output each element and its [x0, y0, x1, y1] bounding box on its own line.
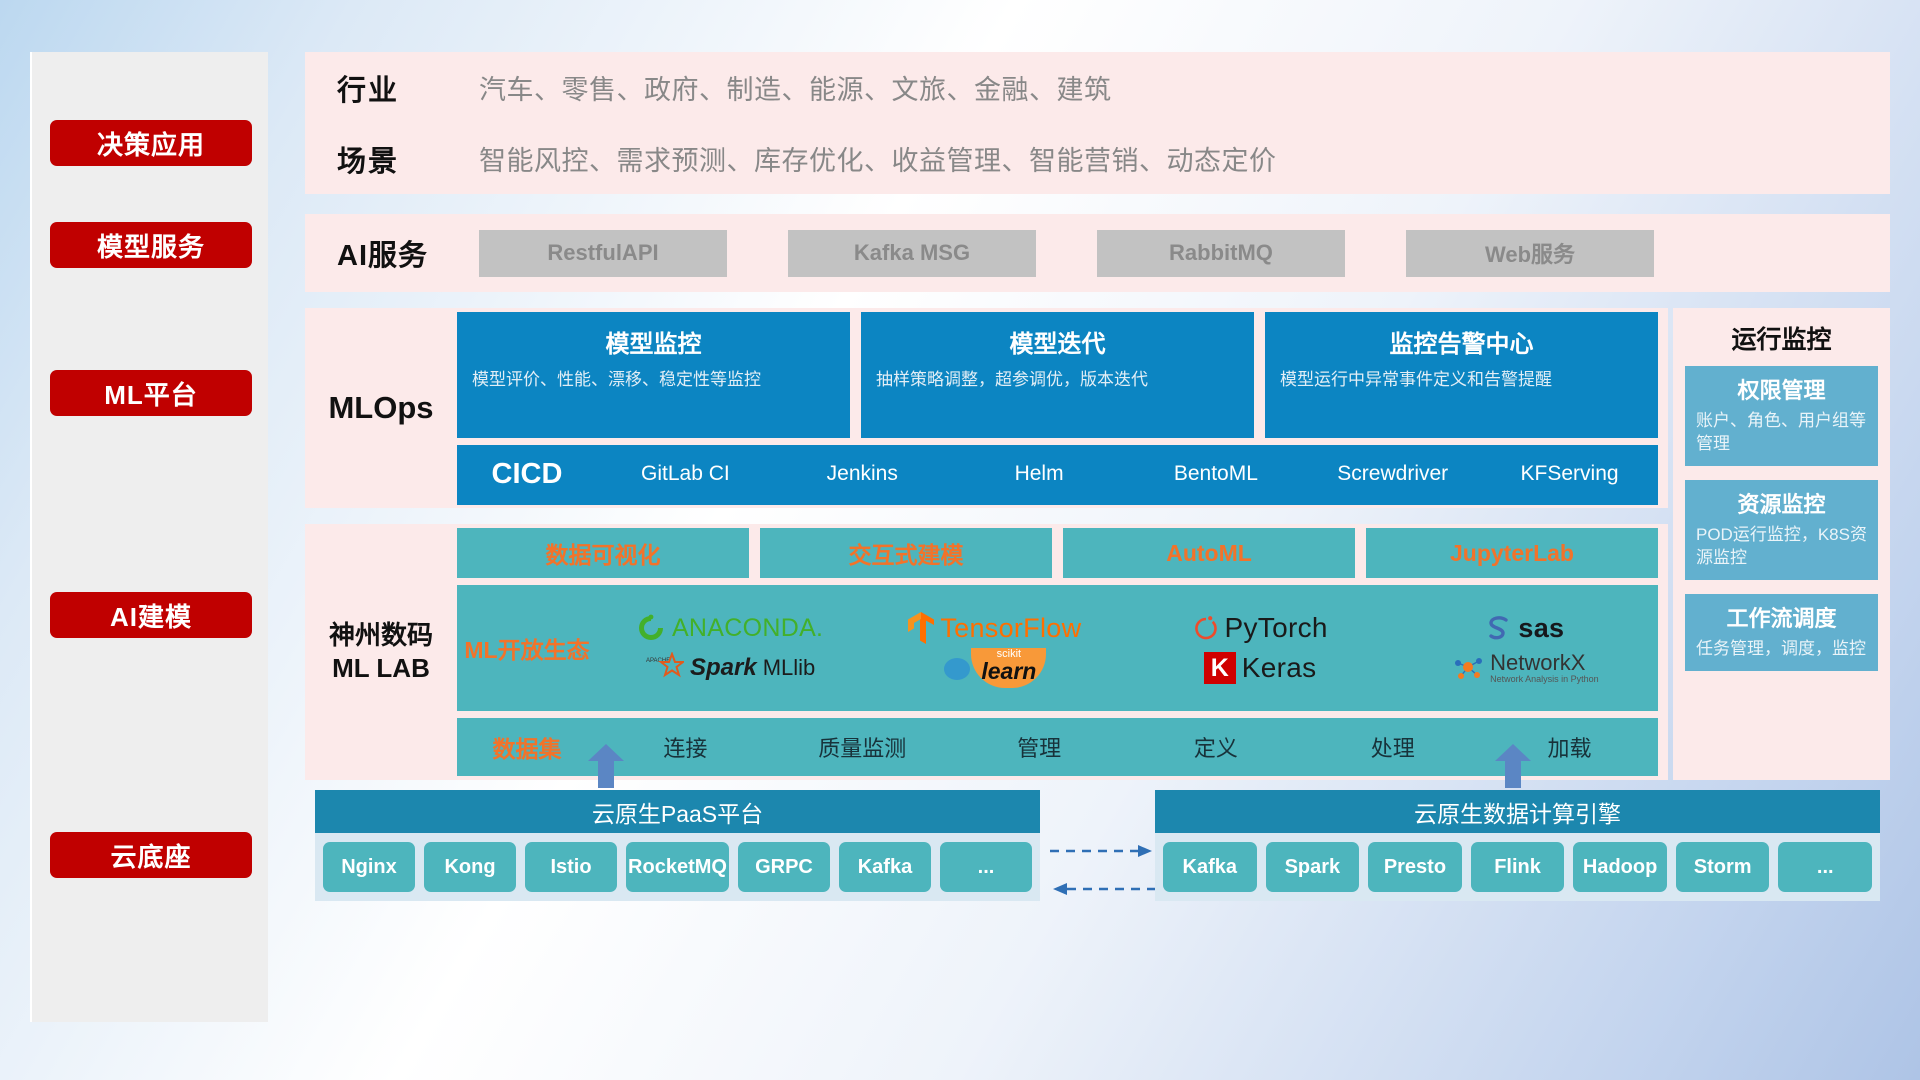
ml-lab-label: 神州数码 ML LAB	[305, 619, 457, 686]
spark-wordmark: Spark	[690, 654, 757, 682]
mlops-card-title: 模型迭代	[876, 324, 1239, 359]
scenario-value: 智能风控、需求预测、库存优化、收益管理、智能营销、动态定价	[479, 139, 1277, 178]
connector-arrows-icon	[1050, 837, 1155, 907]
tensorflow-wordmark: TensorFlow	[940, 613, 1081, 644]
monitoring-card-permission[interactable]: 权限管理 账户、角色、用户组等管理	[1685, 366, 1878, 466]
paas-stack: 云原生PaaS平台 Nginx Kong Istio RocketMQ GRPC…	[315, 790, 1040, 901]
industry-label: 行业	[337, 67, 479, 109]
ml-lab-tab-interactive-modeling[interactable]: 交互式建模	[760, 528, 1052, 578]
monitoring-card-desc: 账户、角色、用户组等管理	[1696, 410, 1867, 456]
paas-chip-kong[interactable]: Kong	[424, 842, 516, 892]
scikit-learn-logo: scikit learn	[943, 648, 1046, 688]
ai-service-button-kafka-msg[interactable]: Kafka MSG	[788, 230, 1036, 277]
sas-mark-icon	[1486, 614, 1512, 642]
cicd-item-jenkins[interactable]: Jenkins	[774, 463, 951, 485]
paas-stack-title: 云原生PaaS平台	[315, 790, 1040, 833]
cicd-item-bentoml[interactable]: BentoML	[1127, 463, 1304, 485]
data-engine-chip-hadoop[interactable]: Hadoop	[1573, 842, 1667, 892]
ml-ecosystem-row: ML开放生态 ANACONDA.	[457, 585, 1658, 711]
cloud-base-section: 云原生PaaS平台 Nginx Kong Istio RocketMQ GRPC…	[305, 742, 1890, 1022]
industry-value: 汽车、零售、政府、制造、能源、文旅、金融、建筑	[479, 68, 1112, 107]
mlops-card-model-iteration[interactable]: 模型迭代 抽样策略调整，超参调优，版本迭代	[861, 312, 1254, 438]
arrow-up-to-paas-icon	[588, 744, 624, 788]
ml-lab-tab-jupyterlab[interactable]: JupyterLab	[1366, 528, 1658, 578]
keras-logo: K Keras	[1204, 652, 1317, 684]
rail-chip-model-service[interactable]: 模型服务	[50, 222, 252, 268]
monitoring-card-workflow[interactable]: 工作流调度 任务管理，调度，监控	[1685, 594, 1878, 671]
rail-chip-label: 模型服务	[97, 227, 205, 264]
monitoring-card-resource[interactable]: 资源监控 POD运行监控，K8S资源监控	[1685, 480, 1878, 580]
pytorch-logo: PyTorch	[1193, 612, 1328, 644]
mlops-label: MLOps	[305, 390, 457, 426]
anaconda-logo: ANACONDA.	[636, 613, 823, 643]
rail-chip-ai-modeling[interactable]: AI建模	[50, 592, 252, 638]
cicd-item-screwdriver[interactable]: Screwdriver	[1304, 463, 1481, 485]
cicd-row: CICD GitLab CI Jenkins Helm BentoML Scre…	[457, 445, 1658, 505]
paas-chip-istio[interactable]: Istio	[525, 842, 617, 892]
mlops-card-title: 模型监控	[472, 324, 835, 359]
rail-chip-decision-app[interactable]: 决策应用	[50, 120, 252, 166]
ml-lab-label-line1: 神州数码	[305, 619, 457, 652]
ai-service-button-rabbitmq[interactable]: RabbitMQ	[1097, 230, 1345, 277]
rail-chip-ml-platform[interactable]: ML平台	[50, 370, 252, 416]
runtime-monitoring-title: 运行监控	[1673, 308, 1890, 366]
monitoring-card-title: 工作流调度	[1696, 601, 1867, 633]
paas-chip-grpc[interactable]: GRPC	[738, 842, 830, 892]
networkx-wordmark: NetworkX	[1490, 652, 1599, 674]
paas-chip-more[interactable]: ...	[940, 842, 1032, 892]
mlops-card-title: 监控告警中心	[1280, 324, 1643, 359]
networkx-tagline: Network Analysis in Python	[1490, 674, 1599, 685]
runtime-monitoring-panel: 运行监控 权限管理 账户、角色、用户组等管理 资源监控 POD运行监控，K8S资…	[1673, 308, 1890, 780]
monitoring-card-desc: 任务管理，调度，监控	[1696, 638, 1867, 661]
ai-service-band: AI服务 RestfulAPI Kafka MSG RabbitMQ Web服务	[305, 214, 1890, 292]
monitoring-card-title: 资源监控	[1696, 487, 1867, 519]
anaconda-wordmark: ANACONDA.	[672, 614, 823, 643]
scenario-label: 场景	[337, 138, 479, 180]
data-engine-chip-storm[interactable]: Storm	[1676, 842, 1770, 892]
pytorch-mark-icon	[1193, 613, 1219, 643]
arrow-up-to-data-engine-icon	[1495, 744, 1531, 788]
data-engine-chip-more[interactable]: ...	[1778, 842, 1872, 892]
paas-chip-rocketmq[interactable]: RocketMQ	[626, 842, 729, 892]
rail-chip-label: AI建模	[110, 597, 192, 634]
data-engine-stack: 云原生数据计算引擎 Kafka Spark Presto Flink Hadoo…	[1155, 790, 1880, 901]
paas-chip-kafka[interactable]: Kafka	[839, 842, 931, 892]
scikit-wordmark-bottom: learn	[981, 660, 1036, 683]
cicd-item-gitlab-ci[interactable]: GitLab CI	[597, 463, 774, 485]
ai-service-button-group: RestfulAPI Kafka MSG RabbitMQ Web服务	[479, 230, 1654, 277]
industry-row: 行业 汽车、零售、政府、制造、能源、文旅、金融、建筑	[305, 52, 1890, 123]
networkx-logo: NetworkX Network Analysis in Python	[1452, 652, 1599, 685]
data-engine-stack-title: 云原生数据计算引擎	[1155, 790, 1880, 833]
scenario-row: 场景 智能风控、需求预测、库存优化、收益管理、智能营销、动态定价	[305, 123, 1890, 194]
networkx-graph-icon	[1452, 653, 1484, 683]
mlops-card-desc: 抽样策略调整，超参调优，版本迭代	[876, 368, 1239, 393]
ai-service-label: AI服务	[337, 232, 479, 274]
mlops-band: MLOps 模型监控 模型评价、性能、漂移、稳定性等监控 模型迭代 抽样策略调整…	[305, 308, 1668, 508]
keras-mark-icon: K	[1204, 652, 1236, 684]
paas-chip-nginx[interactable]: Nginx	[323, 842, 415, 892]
data-engine-chip-kafka[interactable]: Kafka	[1163, 842, 1257, 892]
cicd-title: CICD	[457, 458, 597, 491]
mlops-card-desc: 模型运行中异常事件定义和告警提醒	[1280, 368, 1643, 393]
ml-ecosystem-label: ML开放生态	[457, 631, 597, 665]
mlops-card-group: 模型监控 模型评价、性能、漂移、稳定性等监控 模型迭代 抽样策略调整，超参调优，…	[457, 312, 1658, 438]
ml-lab-tab-data-visualization[interactable]: 数据可视化	[457, 528, 749, 578]
rail-chip-label: 云底座	[110, 837, 191, 874]
data-engine-chip-spark[interactable]: Spark	[1266, 842, 1360, 892]
tensorflow-mark-icon	[908, 612, 934, 644]
ml-lab-tab-automl[interactable]: AutoML	[1063, 528, 1355, 578]
spark-star-icon: APACHE	[644, 652, 684, 684]
sas-wordmark: sas	[1518, 613, 1564, 644]
ai-service-button-web-service[interactable]: Web服务	[1406, 230, 1654, 277]
rail-chip-cloud-base[interactable]: 云底座	[50, 832, 252, 878]
mlops-card-model-monitoring[interactable]: 模型监控 模型评价、性能、漂移、稳定性等监控	[457, 312, 850, 438]
rail-chip-label: ML平台	[104, 375, 198, 412]
ml-lab-tab-group: 数据可视化 交互式建模 AutoML JupyterLab	[457, 528, 1658, 578]
bidirectional-connector	[1050, 837, 1150, 912]
anaconda-mark-icon	[636, 613, 666, 643]
mllib-wordmark: MLlib	[763, 655, 816, 681]
monitoring-card-desc: POD运行监控，K8S资源监控	[1696, 524, 1867, 570]
data-engine-chip-presto[interactable]: Presto	[1368, 842, 1462, 892]
pytorch-wordmark: PyTorch	[1225, 612, 1328, 644]
tensorflow-logo: TensorFlow	[908, 612, 1081, 644]
mlops-card-alert-center[interactable]: 监控告警中心 模型运行中异常事件定义和告警提醒	[1265, 312, 1658, 438]
data-engine-chip-flink[interactable]: Flink	[1471, 842, 1565, 892]
paas-chip-group: Nginx Kong Istio RocketMQ GRPC Kafka ...	[315, 833, 1040, 901]
cicd-item-kfserving[interactable]: KFServing	[1481, 463, 1658, 485]
rail-chip-label: 决策应用	[97, 125, 205, 162]
monitoring-card-title: 权限管理	[1696, 373, 1867, 405]
sas-logo: sas	[1486, 613, 1564, 644]
layer-rail: 决策应用 模型服务 ML平台 AI建模 云底座	[30, 52, 268, 1022]
ml-lab-label-line2: ML LAB	[305, 652, 457, 685]
application-layer-band: 行业 汽车、零售、政府、制造、能源、文旅、金融、建筑 场景 智能风控、需求预测、…	[305, 52, 1890, 194]
keras-wordmark: Keras	[1242, 652, 1317, 684]
ai-service-button-restfulapi[interactable]: RestfulAPI	[479, 230, 727, 277]
cicd-item-helm[interactable]: Helm	[951, 463, 1128, 485]
spark-mllib-logo: APACHE Spark MLlib	[644, 652, 815, 684]
mlops-card-desc: 模型评价、性能、漂移、稳定性等监控	[472, 368, 835, 393]
data-engine-chip-group: Kafka Spark Presto Flink Hadoop Storm ..…	[1155, 833, 1880, 901]
